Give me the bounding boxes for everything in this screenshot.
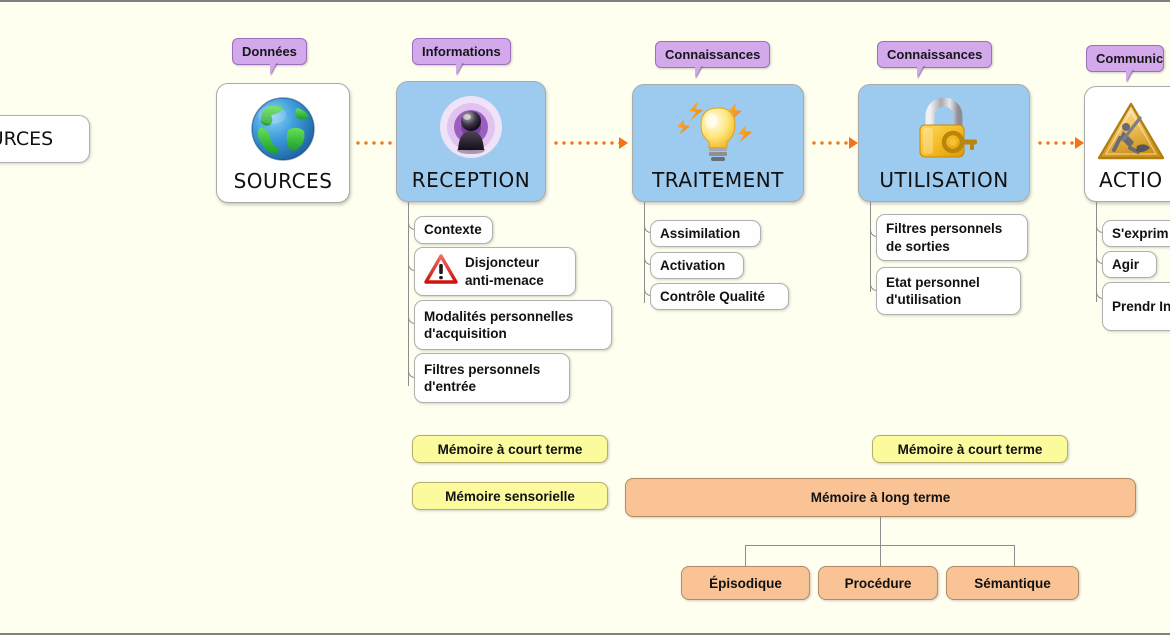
subnode-etat-personnel-label: Etat personnel d'utilisation bbox=[886, 274, 1011, 309]
arrow-head bbox=[619, 137, 628, 149]
subnode-sexprimer[interactable]: S'exprim bbox=[1102, 220, 1170, 247]
subnode-contexte-label: Contexte bbox=[424, 221, 482, 238]
ltm-drop-1 bbox=[880, 545, 881, 567]
offscreen-sources-node[interactable]: URCES bbox=[0, 115, 90, 163]
offscreen-sources-label: URCES bbox=[0, 127, 53, 151]
subnode-filtres-sorties[interactable]: Filtres personnels de sorties bbox=[876, 214, 1028, 261]
bubble-informations-box: Informations bbox=[412, 38, 511, 65]
bubble-informations-label: Informations bbox=[422, 44, 501, 59]
subnode-filtres-entree[interactable]: Filtres personnels d'entrée bbox=[414, 353, 570, 403]
stage-reception-label: RECEPTION bbox=[412, 168, 531, 201]
ltm-stem bbox=[880, 517, 881, 545]
stage-sources[interactable]: SOURCES bbox=[216, 83, 350, 203]
person-signal-icon bbox=[397, 82, 545, 168]
bubble-informations-tail bbox=[456, 62, 463, 75]
bubble-communication-label: Communic bbox=[1096, 51, 1163, 66]
stage-traitement-label: TRAITEMENT bbox=[652, 168, 784, 201]
subnode-contexte[interactable]: Contexte bbox=[414, 216, 493, 244]
subnode-disjoncteur-label: Disjoncteur anti-menace bbox=[465, 254, 566, 289]
ltm-drop-2 bbox=[1014, 545, 1015, 567]
memory-long-term[interactable]: Mémoire à long terme bbox=[625, 478, 1136, 517]
bubble-connaissances-1-label: Connaissances bbox=[665, 47, 760, 62]
memory-sensory-label: Mémoire sensorielle bbox=[445, 489, 575, 504]
arrow-reception-traitement bbox=[552, 137, 628, 149]
subnode-filtres-entree-label: Filtres personnels d'entrée bbox=[424, 361, 560, 396]
bubble-donnees-label: Données bbox=[242, 44, 297, 59]
subnode-prendre-initiative[interactable]: Prendr Initiativ bbox=[1102, 282, 1170, 331]
subnode-activation[interactable]: Activation bbox=[650, 252, 744, 279]
bubble-connaissances-1-box: Connaissances bbox=[655, 41, 770, 68]
memory-procedure-label: Procédure bbox=[845, 576, 912, 591]
bubble-communication-tail bbox=[1126, 69, 1133, 82]
bubble-connaissances-2-tail bbox=[917, 65, 924, 78]
stage-traitement[interactable]: TRAITEMENT bbox=[632, 84, 804, 202]
globe-icon bbox=[217, 84, 349, 169]
memory-procedure[interactable]: Procédure bbox=[818, 566, 938, 600]
subnode-sexprimer-label: S'exprim bbox=[1112, 225, 1169, 242]
ltm-drop-0 bbox=[745, 545, 746, 567]
subnode-prendre-initiative-label: Prendr Initiativ bbox=[1112, 298, 1170, 315]
memory-short-term-left[interactable]: Mémoire à court terme bbox=[412, 435, 608, 463]
worker-warning-icon bbox=[1074, 87, 1170, 168]
subnode-filtres-sorties-label: Filtres personnels de sorties bbox=[886, 220, 1018, 255]
memory-episodique-label: Épisodique bbox=[709, 576, 782, 591]
memory-short-term-right[interactable]: Mémoire à court terme bbox=[872, 435, 1068, 463]
arrow-dots bbox=[810, 141, 850, 145]
bubble-connaissances-2[interactable]: Connaissances bbox=[877, 41, 992, 68]
subnode-controle-qualite[interactable]: Contrôle Qualité bbox=[650, 283, 789, 310]
arrow-dots bbox=[354, 141, 400, 145]
memory-sensory[interactable]: Mémoire sensorielle bbox=[412, 482, 608, 510]
memory-semantique-label: Sémantique bbox=[974, 576, 1051, 591]
arrow-dots bbox=[552, 141, 620, 145]
subnode-modalites[interactable]: Modalités personnelles d'acquisition bbox=[414, 300, 612, 350]
stage-reception[interactable]: RECEPTION bbox=[396, 81, 546, 202]
padlock-key-icon bbox=[859, 85, 1029, 168]
subnode-etat-personnel[interactable]: Etat personnel d'utilisation bbox=[876, 267, 1021, 315]
subnode-agir[interactable]: Agir bbox=[1102, 251, 1157, 278]
stage-sources-label: SOURCES bbox=[234, 169, 333, 202]
arrow-traitement-utilisation bbox=[810, 137, 858, 149]
lightbulb-icon bbox=[633, 85, 803, 168]
bubble-donnees[interactable]: Données bbox=[232, 38, 307, 65]
subnode-disjoncteur[interactable]: Disjoncteur anti-menace bbox=[414, 247, 576, 296]
bubble-communication[interactable]: Communic bbox=[1086, 45, 1164, 72]
bubble-donnees-tail bbox=[270, 62, 277, 75]
traitement-branch-2 bbox=[644, 202, 654, 296]
bubble-connaissances-1-tail bbox=[695, 65, 702, 78]
stage-utilisation[interactable]: UTILISATION bbox=[858, 84, 1030, 202]
subnode-controle-qualite-label: Contrôle Qualité bbox=[660, 288, 765, 305]
subnode-modalites-label: Modalités personnelles d'acquisition bbox=[424, 308, 602, 343]
subnode-agir-label: Agir bbox=[1112, 256, 1139, 273]
bubble-connaissances-2-box: Connaissances bbox=[877, 41, 992, 68]
warning-triangle-icon bbox=[424, 254, 458, 288]
stage-action[interactable]: ACTIO bbox=[1084, 86, 1170, 202]
memory-semantique[interactable]: Sémantique bbox=[946, 566, 1079, 600]
arrow-head bbox=[849, 137, 858, 149]
bubble-informations[interactable]: Informations bbox=[412, 38, 511, 65]
subnode-assimilation-label: Assimilation bbox=[660, 225, 740, 242]
bubble-connaissances-1[interactable]: Connaissances bbox=[655, 41, 770, 68]
mindmap-canvas: URCES Données bbox=[0, 0, 1170, 635]
arrow-dots bbox=[1036, 141, 1076, 145]
stage-action-label: ACTIO bbox=[1085, 168, 1163, 201]
memory-short-term-right-label: Mémoire à court terme bbox=[898, 442, 1043, 457]
bubble-donnees-box: Données bbox=[232, 38, 307, 65]
subnode-assimilation[interactable]: Assimilation bbox=[650, 220, 761, 247]
bubble-communication-box: Communic bbox=[1086, 45, 1164, 72]
memory-long-term-label: Mémoire à long terme bbox=[811, 490, 951, 505]
subnode-activation-label: Activation bbox=[660, 257, 725, 274]
bubble-connaissances-2-label: Connaissances bbox=[887, 47, 982, 62]
stage-utilisation-label: UTILISATION bbox=[879, 168, 1008, 201]
memory-episodique[interactable]: Épisodique bbox=[681, 566, 810, 600]
memory-short-term-left-label: Mémoire à court terme bbox=[438, 442, 583, 457]
